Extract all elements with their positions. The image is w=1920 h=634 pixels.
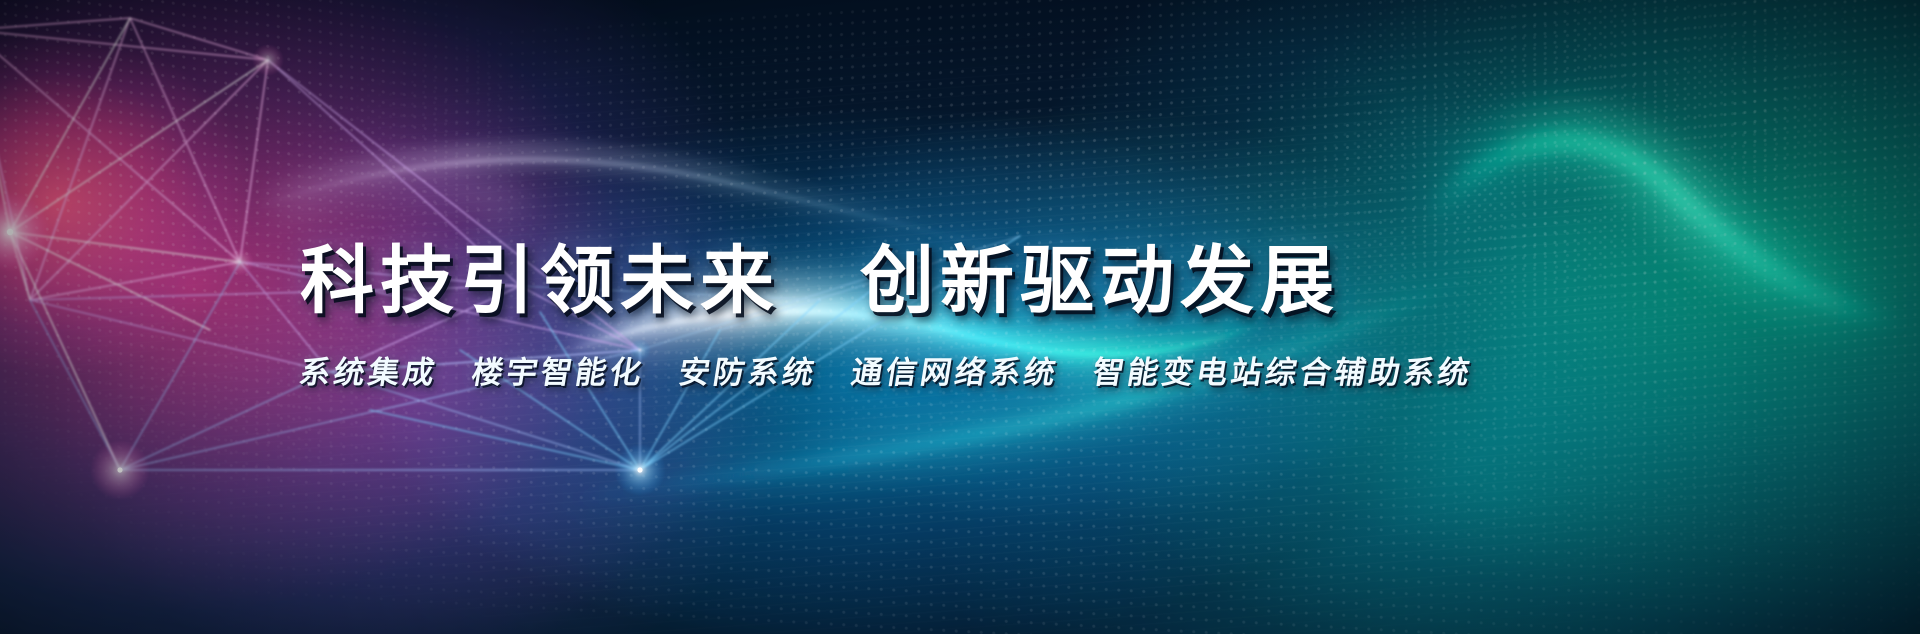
banner-text-block: 科技引领未来 创新驱动发展 系统集成 楼宇智能化 安防系统 通信网络系统 智能变… xyxy=(0,0,1920,634)
banner-tagline: 系统集成 楼宇智能化 安防系统 通信网络系统 智能变电站综合辅助系统 xyxy=(296,347,1476,392)
tech-banner: 科技引领未来 创新驱动发展 系统集成 楼宇智能化 安防系统 通信网络系统 智能变… xyxy=(0,0,1920,634)
banner-headline: 科技引领未来 创新驱动发展 xyxy=(300,242,1340,320)
